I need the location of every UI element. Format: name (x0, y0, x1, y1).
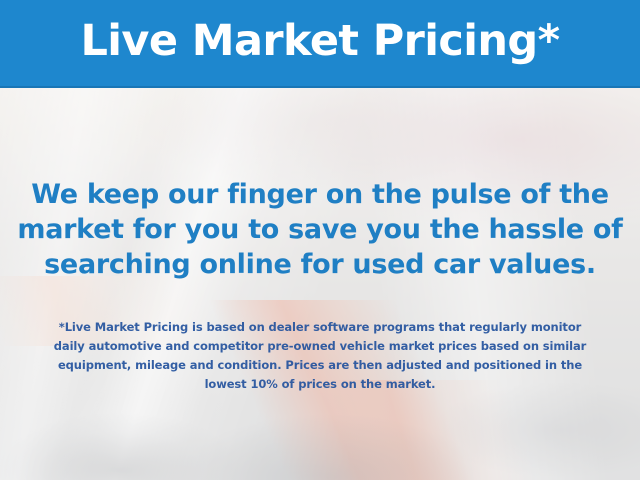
headline-text: We keep our finger on the pulse of the m… (0, 177, 640, 282)
fineprint-line-1: *Live Market Pricing is based on dealer … (24, 318, 616, 337)
headline-line-2: market for you to save you the hassle of (0, 212, 640, 247)
fineprint-disclaimer: *Live Market Pricing is based on dealer … (24, 318, 616, 394)
fineprint-line-3: equipment, mileage and condition. Prices… (24, 356, 616, 375)
headline-line-3: searching online for used car values. (0, 247, 640, 282)
fineprint-line-2: daily automotive and competitor pre-owne… (24, 337, 616, 356)
live-market-pricing-banner: Live Market Pricing* We keep our finger … (0, 0, 640, 480)
header-band: Live Market Pricing* (0, 0, 640, 88)
fineprint-line-4: lowest 10% of prices on the market. (24, 375, 616, 394)
page-title: Live Market Pricing* (80, 20, 559, 66)
headline-line-1: We keep our finger on the pulse of the (0, 177, 640, 212)
